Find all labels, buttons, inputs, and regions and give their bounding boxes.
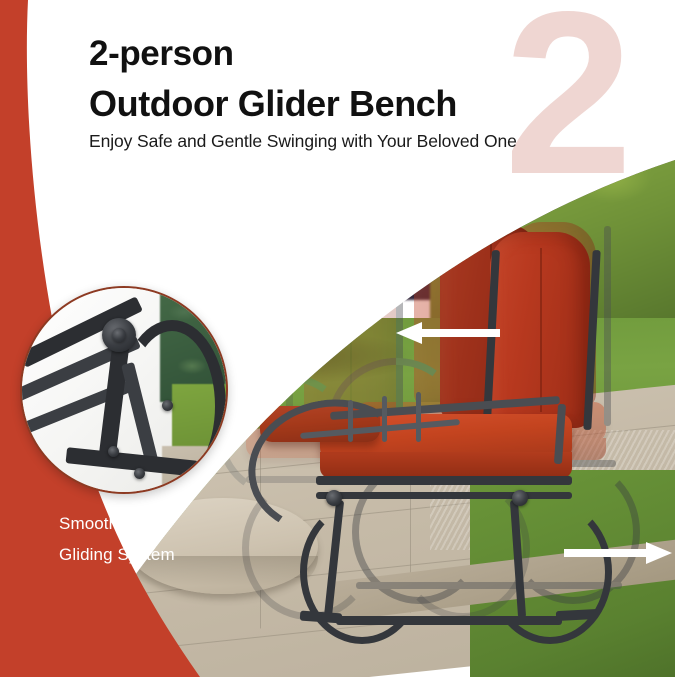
product-poster: 2 2-person Outdoor Glider Bench Enjoy S [0,0,675,677]
glider-pivot-right [512,490,528,506]
motion-arrow-lower-right [564,540,672,566]
base-frame-bottom-rail [336,616,562,625]
inset-bolt-base [134,468,145,479]
armrest-vertical-slat-1 [348,400,353,442]
seat-frame-rail-lower [316,492,572,499]
small-shrub [262,300,302,334]
base-foot-left [300,611,343,624]
inset-bolt-arm [108,446,119,457]
inset-bolt-brace [162,400,173,411]
title-line-2: Outdoor Glider Bench [89,82,589,125]
glider-mechanism-inset [22,288,226,492]
motion-arrow-upper-left [396,320,500,346]
title-line-1: 2-person [89,33,589,74]
headline-subtitle: Enjoy Safe and Gentle Swinging with Your… [89,131,589,152]
headline-block: 2-person Outdoor Glider Bench Enjoy Safe… [89,33,589,152]
feature-caption-line-2: Gliding System [59,539,175,570]
armrest-vertical-slat-2 [382,396,387,442]
feature-caption: Smooth Gliding System [59,508,175,571]
inset-pivot-bolt [112,328,126,342]
seat-frame-rail [316,476,572,485]
armrest-vertical-slat-3 [416,392,421,442]
feature-caption-line-1: Smooth [59,508,175,539]
